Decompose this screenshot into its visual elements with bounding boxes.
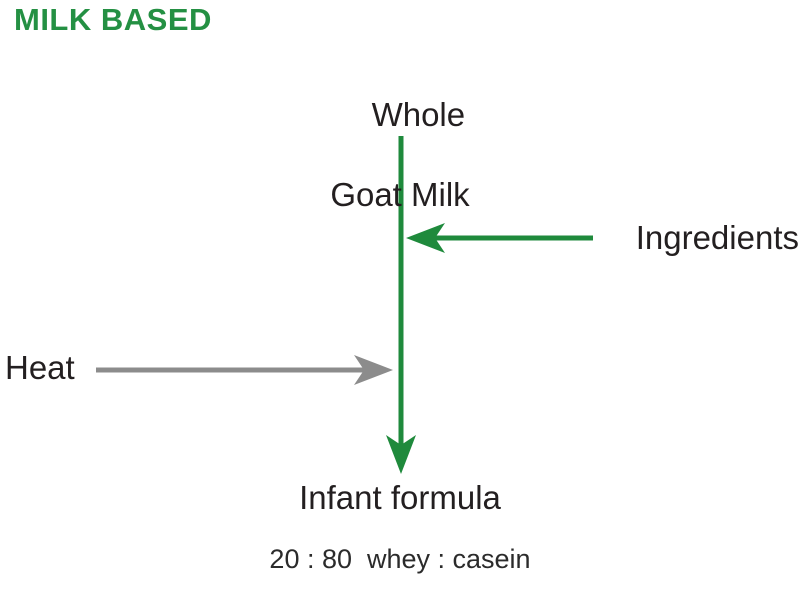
node-label-ingredients: Ingredients: [636, 218, 799, 258]
diagram-canvas: MILK BASED Whole Goat Milk Ingredients H…: [0, 0, 800, 591]
heat-input-arrow: [96, 355, 393, 385]
node-label-heat: Heat: [5, 348, 75, 388]
node-label-infant-formula: Infant formula: [0, 478, 800, 518]
node-label-whole-goat-milk-line1: Whole: [372, 96, 466, 133]
node-label-whole-goat-milk: Whole Goat Milk: [0, 55, 800, 295]
node-label-whole-goat-milk-line2: Goat Milk: [0, 175, 800, 215]
node-label-whey-casein-ratio: 20 : 80 whey : casein: [0, 543, 800, 576]
